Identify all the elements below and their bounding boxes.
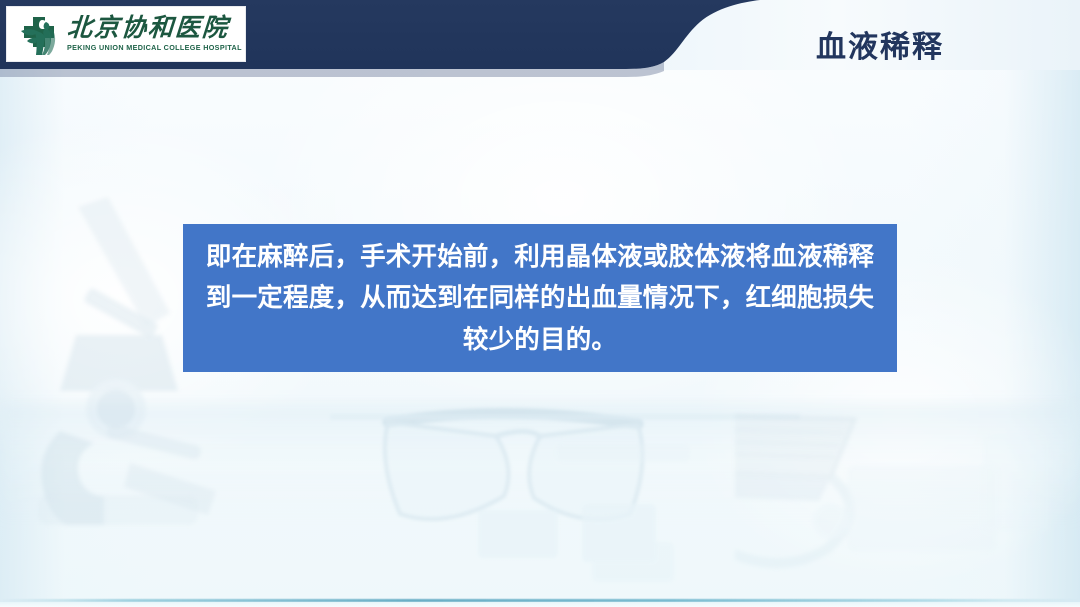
hospital-name-english: PEKING UNION MEDICAL COLLEGE HOSPITAL [67, 44, 242, 51]
hospital-name-chinese: 北京协和医院 [66, 16, 243, 41]
hospital-logo-text: 北京协和医院 PEKING UNION MEDICAL COLLEGE HOSP… [67, 16, 242, 51]
hospital-logo: 北京协和医院 PEKING UNION MEDICAL COLLEGE HOSP… [7, 7, 245, 61]
safety-goggles-icon [330, 392, 800, 582]
green-cross-figure-icon [15, 11, 63, 57]
slide-title: 血液稀释 [700, 22, 1060, 66]
laptop-icon [735, 395, 1065, 575]
content-text-box: 即在麻醉后，手术开始前，利用晶体液或胶体液将血液稀释到一定程度，从而达到在同样的… [183, 224, 897, 372]
background-bottom-fade [0, 602, 1080, 607]
content-paragraph: 即在麻醉后，手术开始前，利用晶体液或胶体液将血液稀释到一定程度，从而达到在同样的… [205, 237, 875, 361]
presentation-slide: 北京协和医院 PEKING UNION MEDICAL COLLEGE HOSP… [0, 0, 1080, 607]
